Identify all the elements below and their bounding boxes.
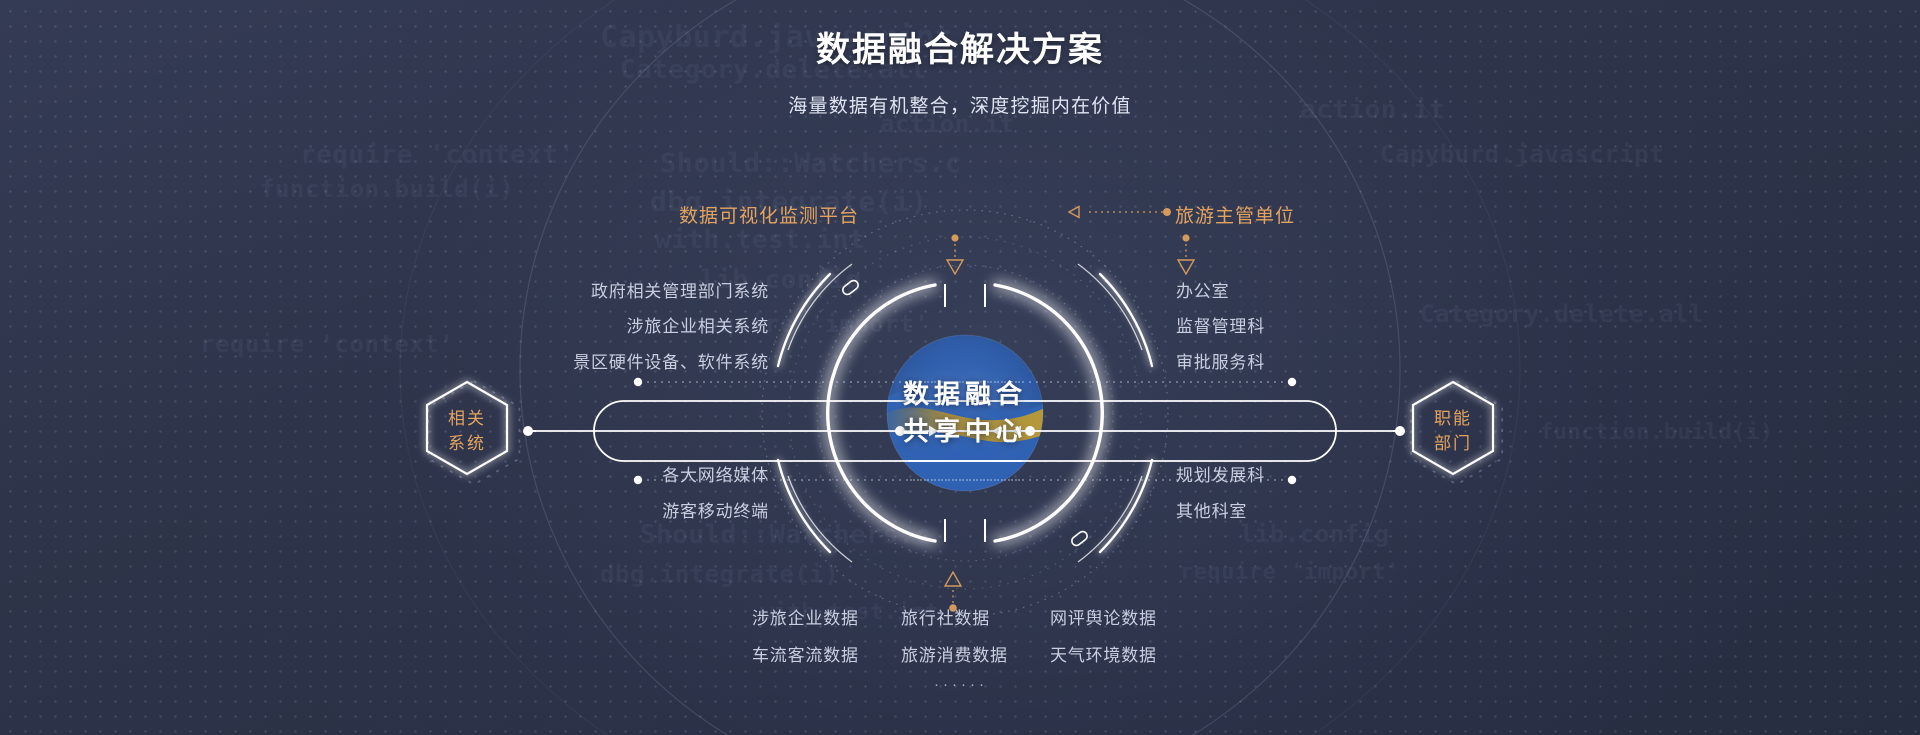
- left-label-tourism-enterprise-system[interactable]: 涉旅企业相关系统: [627, 312, 769, 337]
- infographic-stage: Capyburd.javascriptCategory.delete.allSh…: [0, 0, 1920, 735]
- hexagon-right-line1: 职能: [1434, 407, 1472, 432]
- background-code-line: Should::Watchers.c: [640, 520, 931, 550]
- left-label-scenic-hardware-software[interactable]: 景区硬件设备、软件系统: [573, 348, 769, 373]
- page-header: 数据融合解决方案 海量数据有机整合，深度挖掘内在价值: [0, 30, 1920, 118]
- right-label-other-departments[interactable]: 其他科室: [1176, 497, 1247, 522]
- hexagon-right-line2: 部门: [1434, 432, 1472, 457]
- core-label: 数据融合 共享中心: [865, 376, 1065, 450]
- background-code-line: require 'import': [1180, 560, 1400, 585]
- right-label-approval-service-dept[interactable]: 审批服务科: [1176, 348, 1265, 373]
- hexagon-right-text: 职能 部门: [1394, 370, 1512, 494]
- background-code-line: with.test.int: [655, 225, 865, 255]
- bottom-label-travel-agency-data[interactable]: 旅行社数据: [901, 604, 990, 629]
- bottom-label-tourism-consumption-data[interactable]: 旅游消费数据: [901, 641, 1008, 666]
- right-label-office[interactable]: 办公室: [1176, 277, 1229, 302]
- hexagon-left-text: 相关 系统: [408, 370, 526, 494]
- core-label-line2: 共享中心: [865, 413, 1065, 450]
- page-title: 数据融合解决方案: [0, 30, 1920, 71]
- hexagon-left-line1: 相关: [448, 407, 486, 432]
- hexagon-badge-functional-departments[interactable]: 职能 部门: [1394, 370, 1512, 494]
- hexagon-left-line2: 系统: [448, 432, 486, 457]
- right-label-supervision-dept[interactable]: 监督管理科: [1176, 312, 1265, 337]
- bottom-label-online-review-data[interactable]: 网评舆论数据: [1050, 604, 1157, 629]
- left-label-tourist-mobile-terminal[interactable]: 游客移动终端: [662, 497, 769, 522]
- background-code-line: function.build(i): [260, 175, 514, 203]
- core-label-wrapper[interactable]: 数据融合 共享中心: [865, 353, 1065, 473]
- background-code-line: require 'context': [300, 140, 575, 170]
- bottom-label-weather-environment-data[interactable]: 天气环境数据: [1050, 641, 1157, 666]
- node-label-visualization-platform[interactable]: 数据可视化监测平台: [679, 201, 859, 228]
- bottom-label-enterprise-data[interactable]: 涉旅企业数据: [752, 604, 859, 629]
- right-label-planning-development-dept[interactable]: 规划发展科: [1176, 461, 1265, 486]
- bottom-ellipsis: ······: [934, 676, 988, 693]
- hexagon-badge-related-systems[interactable]: 相关 系统: [408, 370, 526, 494]
- bottom-label-traffic-flow-data[interactable]: 车流客流数据: [752, 641, 859, 666]
- background-code-line: Category.delete.all: [1420, 300, 1704, 328]
- core-label-line1: 数据融合: [865, 376, 1065, 413]
- top-orange-connectors: [947, 207, 1194, 275]
- node-label-tourism-authority[interactable]: 旅游主管单位: [1175, 201, 1295, 228]
- background-code-line: lib.config: [1240, 520, 1390, 548]
- background-code-line: require 'context': [200, 330, 454, 358]
- left-label-gov-dept-system[interactable]: 政府相关管理部门系统: [591, 277, 769, 302]
- background-code-line: dbg.integrate(i): [600, 560, 839, 588]
- background-code-line: Capyburd.javascript: [1380, 140, 1664, 168]
- left-label-network-media[interactable]: 各大网络媒体: [662, 461, 769, 486]
- background-code-line: function.build(i): [1540, 420, 1774, 445]
- page-subtitle: 海量数据有机整合，深度挖掘内在价值: [0, 91, 1920, 118]
- background-code-line: Should::Watchers.c: [660, 148, 962, 179]
